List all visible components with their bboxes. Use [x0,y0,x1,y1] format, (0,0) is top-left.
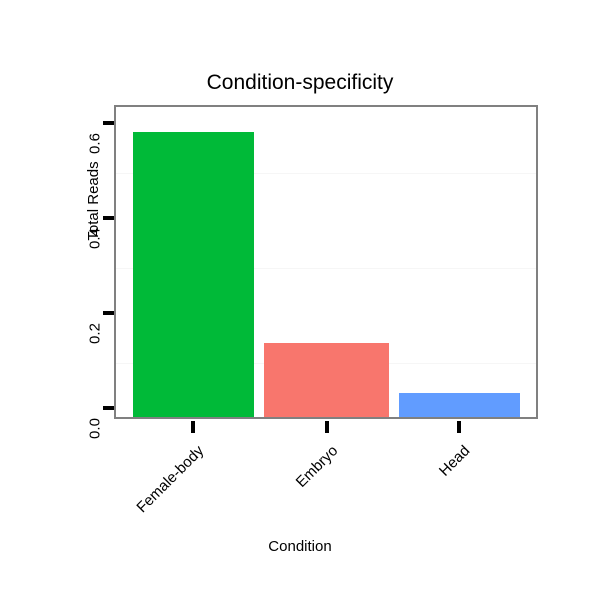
y-tick-label-0.2: 0.2 [88,314,103,354]
x-tick-mark-head [457,421,461,433]
x-tick-label-female-body: Female-body [125,443,207,525]
bar-female-body[interactable] [133,132,254,417]
y-tick-mark-0.4 [103,216,114,220]
y-tick-label-0.0: 0.0 [88,409,103,449]
x-tick-mark-embryo [325,421,329,433]
y-tick-mark-0.2 [103,311,114,315]
x-tick-label-head: Head [391,443,473,525]
bar-embryo[interactable] [264,343,389,417]
plot-panel [114,105,538,419]
y-tick-mark-0.6 [103,121,114,125]
x-axis-title: Condition [0,538,600,556]
x-tick-mark-female-body [191,421,195,433]
x-tick-label-embryo: Embryo [259,443,341,525]
y-axis-title: Total Reads [85,131,103,271]
chart-title: Condition-specificity [0,70,600,96]
y-tick-mark-0.0 [103,406,114,410]
chart-canvas: Condition-specificity 0.6 0.4 0.2 0.0 Fe… [0,0,600,600]
bar-head[interactable] [399,393,520,417]
